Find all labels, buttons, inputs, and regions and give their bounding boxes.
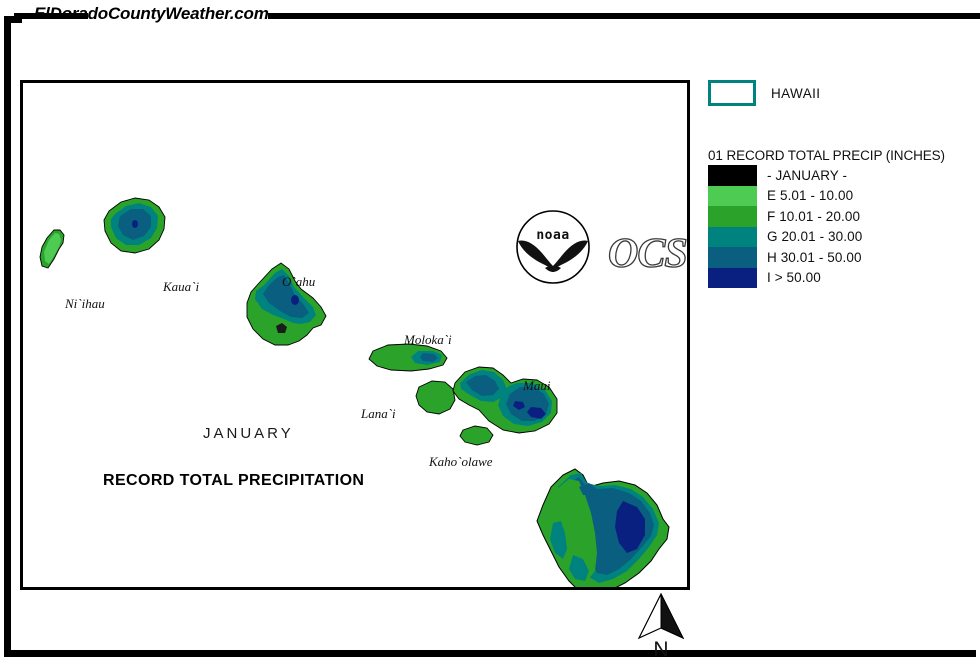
legend: HAWAII 01 RECORD TOTAL PRECIP (INCHES) -… xyxy=(708,78,970,288)
hawaii-precipitation-map[interactable] xyxy=(23,83,687,587)
noaa-emblem: noaa xyxy=(512,208,594,291)
island-label-niihau: Ni`ihau xyxy=(65,296,105,312)
island-hawaii xyxy=(537,469,669,587)
island-kauai xyxy=(104,198,165,253)
noaa-seal-icon: noaa xyxy=(512,208,594,286)
legend-row: - JANUARY - xyxy=(708,165,970,186)
island-label-oahu: O`ahu xyxy=(282,274,315,290)
island-label-hawaii: Hawai`i xyxy=(482,586,525,590)
island-label-molokai: Moloka`i xyxy=(404,332,452,348)
legend-swatch-i xyxy=(708,268,757,289)
legend-area-key: HAWAII xyxy=(708,78,970,108)
legend-swatch-january xyxy=(708,165,757,186)
precip-legend: 01 RECORD TOTAL PRECIP (INCHES) - JANUAR… xyxy=(708,148,970,288)
legend-swatch-e xyxy=(708,186,757,207)
ocs-wordmark-icon: OCS xyxy=(606,231,690,279)
north-arrow: N xyxy=(634,592,690,663)
map-panel[interactable]: Ni`ihau Kaua`i O`ahu Moloka`i Lana`i Mau… xyxy=(20,80,690,590)
precip-legend-title: 01 RECORD TOTAL PRECIP (INCHES) xyxy=(708,148,970,163)
island-niihau xyxy=(40,230,64,268)
noaa-seal-text: noaa xyxy=(536,228,569,243)
island-label-lanai: Lana`i xyxy=(361,406,396,422)
legend-label-f: F 10.01 - 20.00 xyxy=(767,209,860,224)
legend-label-january: - JANUARY - xyxy=(767,168,847,183)
legend-area-swatch xyxy=(708,80,756,106)
legend-swatch-g xyxy=(708,227,757,248)
legend-area-label: HAWAII xyxy=(771,86,820,101)
legend-row: G 20.01 - 30.00 xyxy=(708,227,970,248)
map-month-title: JANUARY xyxy=(203,425,294,442)
island-molokai xyxy=(369,344,447,371)
island-maui xyxy=(453,367,557,433)
legend-label-e: E 5.01 - 10.00 xyxy=(767,188,853,203)
ocs-wordmark-text: OCS xyxy=(608,231,687,277)
legend-label-i: I > 50.00 xyxy=(767,270,821,285)
legend-swatch-h xyxy=(708,247,757,268)
legend-row: H 30.01 - 50.00 xyxy=(708,247,970,268)
island-label-maui: Maui xyxy=(523,378,550,394)
island-lanai xyxy=(416,381,455,414)
island-kahoolawe xyxy=(460,426,493,445)
legend-row: F 10.01 - 20.00 xyxy=(708,206,970,227)
legend-row: E 5.01 - 10.00 xyxy=(708,186,970,207)
north-arrow-label: N xyxy=(653,638,668,658)
island-label-kahoolawe: Kaho`olawe xyxy=(429,454,493,470)
legend-row: I > 50.00 xyxy=(708,268,970,289)
ocs-wordmark: OCS xyxy=(606,231,690,284)
legend-label-g: G 20.01 - 30.00 xyxy=(767,229,862,244)
map-main-title: RECORD TOTAL PRECIPITATION xyxy=(103,472,364,490)
legend-swatch-f xyxy=(708,206,757,227)
north-arrow-icon: N xyxy=(634,592,690,658)
legend-label-h: H 30.01 - 50.00 xyxy=(767,250,862,265)
island-label-kauai: Kaua`i xyxy=(163,279,199,295)
